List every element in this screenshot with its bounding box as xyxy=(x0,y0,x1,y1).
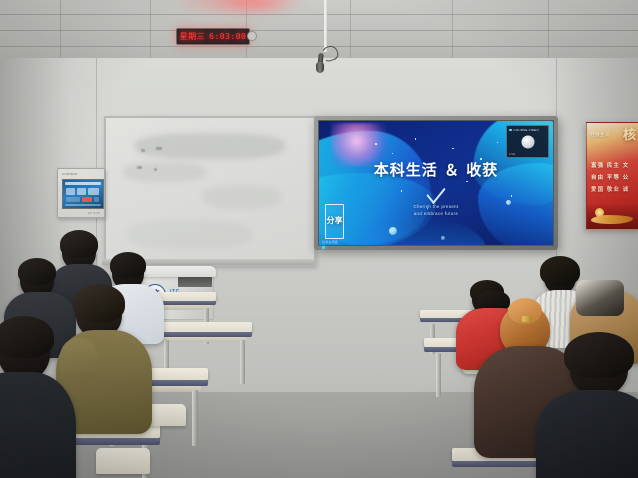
slide-subtitle: Cherish the present and embrace future xyxy=(319,203,553,218)
control-panel-screen[interactable] xyxy=(62,179,104,209)
inset-circle-graphic xyxy=(521,136,534,149)
led-mount-knob xyxy=(247,31,257,41)
ceiling-light-glow xyxy=(215,0,295,14)
video-inset-panel[interactable]: COURSE VIDEO LIVE xyxy=(506,125,549,158)
poster-line-1: 富强 民主 文 xyxy=(591,161,636,169)
led-time: 6:03:00 xyxy=(209,33,246,41)
slide-subtitle-line-1: Cherish the present xyxy=(319,203,553,211)
core-values-poster: 核 社会主义 富强 民主 文 自由 平等 公 爱国 敬业 诚 xyxy=(586,122,638,230)
slide-corner-tag: 分享交流会 xyxy=(322,240,338,244)
share-badge: 分享 xyxy=(325,204,344,239)
wall-control-panel[interactable]: CONTROL AV SYS xyxy=(57,168,105,218)
slide-title: 本科生活 ＆ 收获 xyxy=(319,159,553,180)
poster-line-3: 爱国 敬业 诚 xyxy=(591,185,636,193)
poster-line-2: 自由 平等 公 xyxy=(591,173,636,181)
display-screen[interactable]: 本科生活 ＆ 收获 Cherish the present and embrac… xyxy=(318,120,554,246)
slide-subtitle-line-2: and embrace future xyxy=(319,210,553,218)
chair-back xyxy=(96,448,150,474)
presentation-slide: 本科生活 ＆ 收获 Cherish the present and embrac… xyxy=(319,121,553,245)
inset-panel-footer: LIVE xyxy=(509,153,515,156)
backpack xyxy=(576,280,624,316)
control-panel-footer: AV SYS xyxy=(88,211,100,215)
whiteboard xyxy=(104,116,316,266)
microphone-pole xyxy=(324,0,327,52)
display-power-led xyxy=(322,246,325,249)
control-panel-label: CONTROL xyxy=(62,172,78,176)
poster-heading: 社会主义 xyxy=(590,132,636,138)
hair-clip xyxy=(522,316,532,322)
led-clock: 星期三 6:03:00 xyxy=(176,28,250,45)
status-dot-icon xyxy=(509,129,512,132)
classroom-photo: 星期三 6:03:00 CONTROL AV SYS xyxy=(0,0,638,478)
led-weekday: 星期三 xyxy=(180,33,206,41)
interactive-smart-display[interactable]: 本科生活 ＆ 收获 Cherish the present and embrac… xyxy=(314,116,558,250)
inset-panel-title: COURSE VIDEO xyxy=(514,128,539,132)
microphone-head xyxy=(316,62,324,73)
